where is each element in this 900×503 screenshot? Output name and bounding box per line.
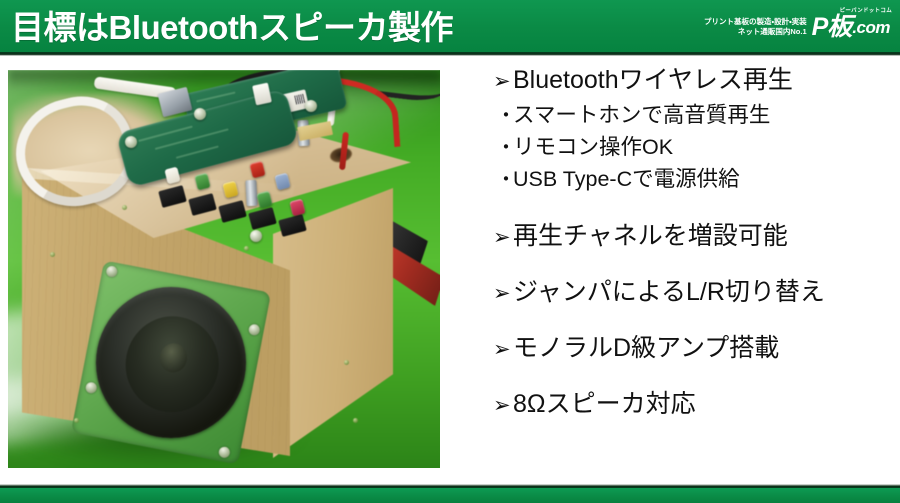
dot-bullet-icon: ・: [496, 165, 513, 196]
footer-bar: [0, 488, 900, 503]
enclosure-screw: [353, 418, 358, 423]
brand-logo-domain: .com: [852, 17, 890, 39]
brand-logo-ruby: ピーバンドットコム: [840, 8, 892, 14]
page-title: 目標はBluetoothスピーカ製作: [11, 3, 453, 47]
list-item: ➢ 8Ωスピーカ対応: [493, 386, 893, 424]
bullet-list: ➢ Bluetoothワイヤレス再生 ・ スマートホンで高音質再生 ・ リモコン…: [493, 62, 893, 424]
brand-logo: プリント基板の製造・設計・実装 ネット通販国内No.1 P板 .com ピーバン…: [704, 9, 892, 45]
list-item: ・ USB Type-Cで電源供給: [493, 164, 893, 196]
speaker-surround: [83, 274, 259, 451]
brand-logo-mark: P板 .com ピーバンドットコム: [812, 15, 892, 39]
dot-bullet-icon: ・: [496, 133, 513, 164]
speaker-dust-cap: [157, 341, 190, 375]
dot-bullet-icon: ・: [496, 101, 513, 132]
board-mount-screw: [250, 230, 262, 242]
board-mount-screw: [305, 100, 317, 112]
module-qr-code: [294, 94, 305, 105]
pcb-trace: [176, 145, 219, 158]
brand-tagline: プリント基板の製造・設計・実装 ネット通販国内No.1: [704, 17, 807, 37]
brand-logo-text: P板: [812, 15, 852, 39]
pcb-standoff: [245, 180, 257, 207]
list-item-label: USB Type-Cで電源供給: [513, 164, 740, 195]
list-item-label: 8Ωスピーカ対応: [513, 386, 696, 422]
slide-root: 目標はBluetoothスピーカ製作 プリント基板の製造・設計・実装 ネット通販…: [0, 0, 900, 503]
speaker-screw: [218, 446, 231, 459]
list-item: ➢ Bluetoothワイヤレス再生: [493, 62, 893, 100]
arrow-bullet-icon: ➢: [493, 332, 513, 368]
list-item: ・ スマートホンで高音質再生: [493, 100, 893, 132]
list-item: ➢ モノラルD級アンプ搭載: [493, 330, 893, 368]
enclosure-screw: [74, 418, 79, 423]
list-item-label: リモコン操作OK: [513, 132, 673, 163]
list-item: ➢ 再生チャネルを増設可能: [493, 218, 893, 256]
list-item-label: ジャンパによるL/R切り替え: [513, 274, 825, 310]
arrow-bullet-icon: ➢: [493, 220, 513, 256]
speaker-screw: [248, 323, 261, 336]
enclosure-screw: [344, 360, 349, 365]
pcb-trace: [196, 91, 235, 102]
enclosure-screw: [122, 205, 127, 210]
board-mount-screw: [125, 136, 137, 148]
list-spacer: [493, 368, 893, 386]
arrow-bullet-icon: ➢: [493, 388, 513, 424]
product-photo: [8, 70, 440, 468]
speaker-driver-frame: [71, 260, 271, 464]
list-item: ➢ ジャンパによるL/R切り替え: [493, 274, 893, 312]
brand-tagline-line2: ネット通販国内No.1: [704, 27, 807, 37]
arrow-bullet-icon: ➢: [493, 276, 513, 312]
arrow-bullet-icon: ➢: [493, 64, 513, 100]
enclosure-screw: [244, 246, 249, 251]
enclosure-screw: [50, 252, 55, 257]
brand-tagline-line1: プリント基板の製造・設計・実装: [704, 17, 807, 27]
speaker-screw: [85, 381, 98, 394]
list-item-label: モノラルD級アンプ搭載: [513, 330, 779, 366]
list-item-label: Bluetoothワイヤレス再生: [513, 62, 793, 98]
photo-scene: [8, 70, 440, 468]
speaker-screw: [105, 265, 118, 278]
list-spacer: [493, 256, 893, 274]
list-spacer: [493, 312, 893, 330]
list-spacer: [493, 196, 893, 218]
list-item-label: スマートホンで高音質再生: [513, 100, 770, 131]
list-item: ・ リモコン操作OK: [493, 132, 893, 164]
list-item-label: 再生チャネルを増設可能: [513, 218, 788, 254]
board-mount-screw: [194, 108, 206, 120]
header-divider: [0, 52, 900, 56]
speaker-cone: [117, 308, 227, 421]
